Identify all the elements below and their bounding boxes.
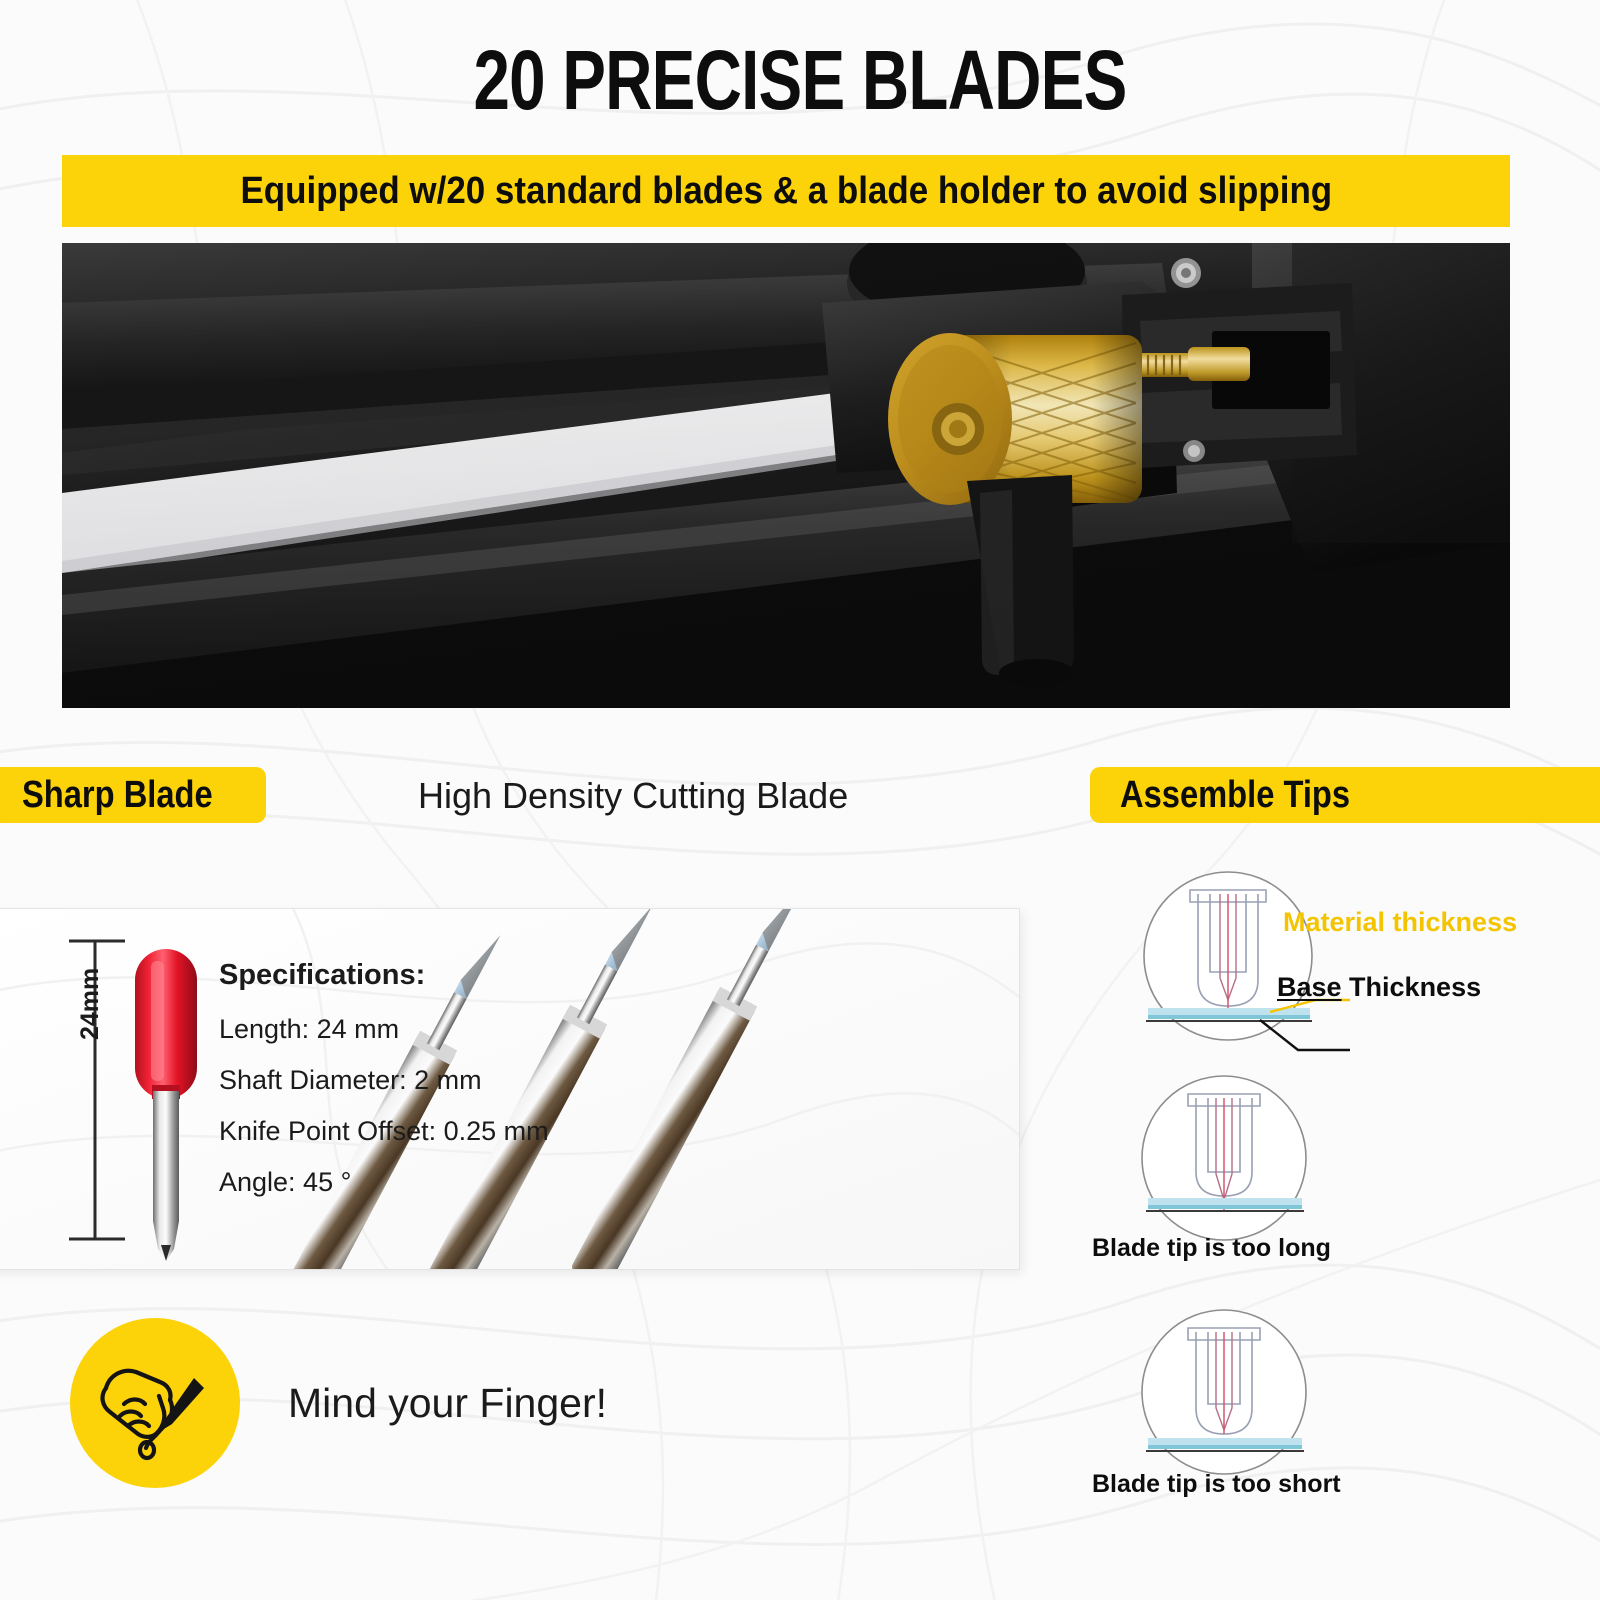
warning-text: Mind your Finger! — [288, 1380, 607, 1427]
caption-blade-tip-too-short: Blade tip is too short — [1092, 1470, 1341, 1499]
label-base-rest: Thickness — [1342, 972, 1482, 1002]
sharp-blade-subtitle: High Density Cutting Blade — [418, 775, 848, 817]
spec-angle: Angle: 45 ° — [219, 1167, 549, 1198]
dimension-label-24mm: 24mm — [76, 968, 105, 1040]
specifications-list: Specifications: Length: 24 mm Shaft Diam… — [219, 959, 549, 1218]
blade-spec-card: Specifications: Length: 24 mm Shaft Diam… — [0, 908, 1020, 1270]
label-material-thickness: Material thickness — [1283, 907, 1517, 938]
badge-sharp-blade: Sharp Blade — [0, 767, 266, 823]
warning-row: Mind your Finger! — [70, 1318, 607, 1488]
page-title: 20 PRECISE BLADES — [176, 38, 1424, 122]
badge-sharp-blade-label: Sharp Blade — [22, 774, 213, 817]
label-base-underlined: Base — [1277, 972, 1342, 1002]
assemble-diagram-correct — [1120, 860, 1350, 1060]
hero-product-photo — [62, 243, 1510, 708]
badge-assemble-tips-label: Assemble Tips — [1120, 774, 1350, 817]
specifications-title: Specifications: — [219, 959, 549, 992]
warning-icon-circle — [70, 1318, 240, 1488]
subtitle-banner: Equipped w/20 standard blades & a blade … — [62, 155, 1510, 227]
spec-length: Length: 24 mm — [219, 1014, 549, 1045]
caption-blade-tip-too-long: Blade tip is too long — [1092, 1234, 1331, 1263]
badge-assemble-tips: Assemble Tips — [1090, 767, 1600, 823]
assemble-diagram-too-long — [1120, 1050, 1320, 1250]
assemble-diagram-too-short — [1120, 1292, 1320, 1492]
spec-knife-point-offset: Knife Point Offset: 0.25 mm — [219, 1116, 549, 1147]
pointing-hand-blade-icon — [90, 1338, 220, 1468]
subtitle-text: Equipped w/20 standard blades & a blade … — [240, 170, 1332, 213]
label-base-thickness: Base Thickness — [1277, 972, 1481, 1003]
spec-shaft-diameter: Shaft Diameter: 2 mm — [219, 1065, 549, 1096]
